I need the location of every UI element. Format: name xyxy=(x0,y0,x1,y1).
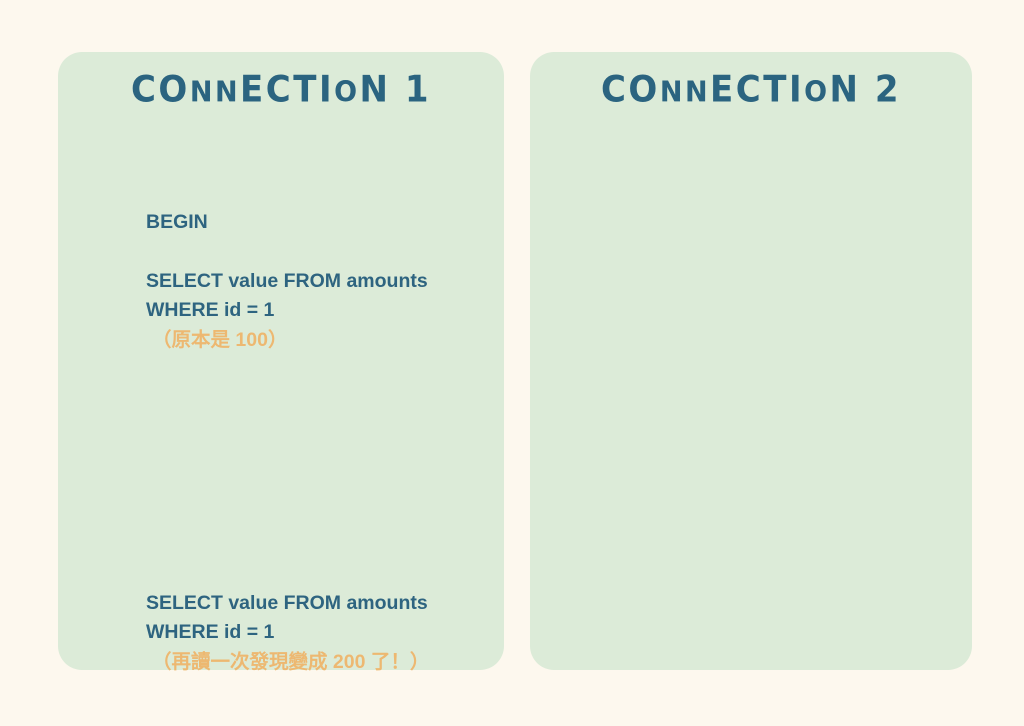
sql-begin: BEGIN xyxy=(146,208,208,237)
diagram-canvas: CONNECTION 1 BEGIN SELECT value FROM amo… xyxy=(0,0,1024,726)
sql-select-line-2: SELECT value FROM amounts xyxy=(146,589,429,618)
connection-1-first-select-block: SELECT value FROM amounts WHERE id = 1 （… xyxy=(146,267,428,355)
sql-select-where-2: WHERE id = 1 xyxy=(146,618,429,647)
connection-2-title: CONNECTION 2 xyxy=(530,71,972,111)
sql-select-line-1: SELECT value FROM amounts xyxy=(146,267,428,296)
annotation-changed-value: （再讀一次發現變成 200 了！） xyxy=(146,647,429,677)
connection-1-panel: CONNECTION 1 BEGIN SELECT value FROM amo… xyxy=(58,52,504,670)
connection-2-panel: CONNECTION 2 BEGIN UPDATE amounts SET va… xyxy=(530,52,972,670)
annotation-original-value: （原本是 100） xyxy=(146,325,428,355)
connection-1-second-select-block: SELECT value FROM amounts WHERE id = 1 （… xyxy=(146,589,429,677)
connection-1-begin-block: BEGIN xyxy=(146,208,208,237)
connection-1-title: CONNECTION 1 xyxy=(58,71,504,111)
connection-2-title-text: CONNECTION 2 xyxy=(601,69,901,111)
connection-1-title-text: CONNECTION 1 xyxy=(131,69,431,111)
sql-select-where-1: WHERE id = 1 xyxy=(146,296,428,325)
